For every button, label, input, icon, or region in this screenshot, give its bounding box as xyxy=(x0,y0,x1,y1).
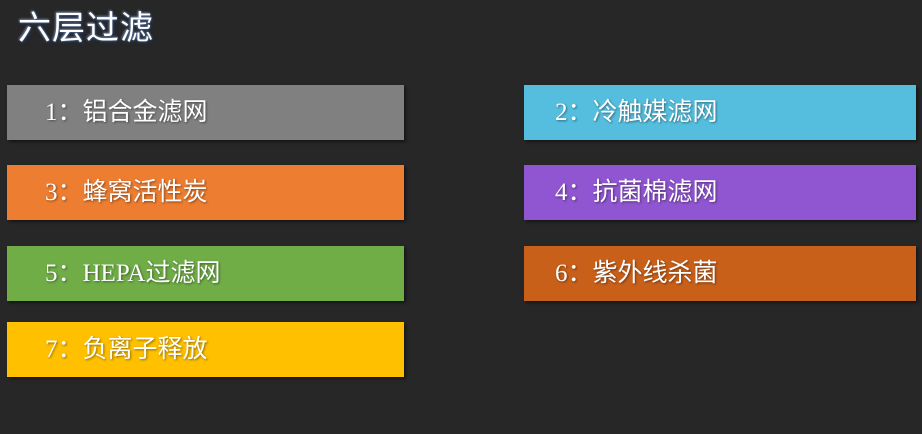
filter-bar-1-label: 1：铝合金滤网 xyxy=(7,85,208,140)
slide-canvas: 六层过滤 1：铝合金滤网 3：蜂窝活性炭 5：HEPA过滤网 7：负离子释放 2… xyxy=(0,0,922,434)
filter-bar-1[interactable]: 1：铝合金滤网 xyxy=(7,85,404,140)
filter-bar-6-label: 6：紫外线杀菌 xyxy=(524,246,718,301)
filter-bar-6[interactable]: 6：紫外线杀菌 xyxy=(524,246,916,301)
filter-bar-4[interactable]: 4：抗菌棉滤网 xyxy=(524,165,916,220)
filter-bar-7[interactable]: 7：负离子释放 xyxy=(7,322,404,377)
filter-bar-3[interactable]: 3：蜂窝活性炭 xyxy=(7,165,404,220)
filter-bar-5-label: 5：HEPA过滤网 xyxy=(7,246,221,301)
filter-bar-2-label: 2：冷触媒滤网 xyxy=(524,85,718,140)
filter-bar-3-label: 3：蜂窝活性炭 xyxy=(7,165,208,220)
filter-bar-5[interactable]: 5：HEPA过滤网 xyxy=(7,246,404,301)
page-title: 六层过滤 xyxy=(18,8,154,48)
filter-bar-2[interactable]: 2：冷触媒滤网 xyxy=(524,85,916,140)
filter-bar-7-label: 7：负离子释放 xyxy=(7,322,208,377)
filter-bar-4-label: 4：抗菌棉滤网 xyxy=(524,165,718,220)
